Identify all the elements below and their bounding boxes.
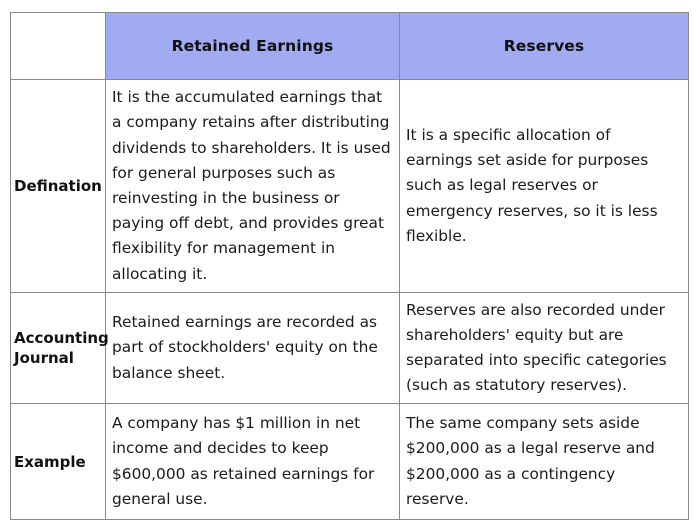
column-header-reserves: Reserves xyxy=(400,13,689,80)
cell-defination-retained-earnings: It is the accumulated earnings that a co… xyxy=(106,80,400,293)
cell-accounting-journal-retained-earnings: Retained earnings are recorded as part o… xyxy=(106,293,400,404)
row-label-example: Example xyxy=(11,404,106,520)
cell-text: The same company sets aside $200,000 as … xyxy=(406,411,681,512)
cell-text: It is the accumulated earnings that a co… xyxy=(112,85,392,287)
table-body: Defination It is the accumulated earning… xyxy=(11,80,689,520)
cell-text: It is a specific allocation of earnings … xyxy=(406,123,681,249)
table-row: Accounting Journal Retained earnings are… xyxy=(11,293,689,404)
table-row: Defination It is the accumulated earning… xyxy=(11,80,689,293)
cell-accounting-journal-reserves: Reserves are also recorded under shareho… xyxy=(400,293,689,404)
page-canvas: Retained Earnings Reserves Defination It… xyxy=(0,0,700,500)
cell-text: Reserves are also recorded under shareho… xyxy=(406,298,681,399)
cell-text: Retained earnings are recorded as part o… xyxy=(112,310,392,386)
row-label-accounting-journal: Accounting Journal xyxy=(11,293,106,404)
cell-example-retained-earnings: A company has $1 million in net income a… xyxy=(106,404,400,520)
table-header-row: Retained Earnings Reserves xyxy=(11,13,689,80)
cell-defination-reserves: It is a specific allocation of earnings … xyxy=(400,80,689,293)
column-header-retained-earnings: Retained Earnings xyxy=(106,13,400,80)
table-header: Retained Earnings Reserves xyxy=(11,13,689,80)
cell-text: A company has $1 million in net income a… xyxy=(112,411,392,512)
table-row: Example A company has $1 million in net … xyxy=(11,404,689,520)
comparison-table: Retained Earnings Reserves Defination It… xyxy=(10,12,689,520)
row-label-defination: Defination xyxy=(11,80,106,293)
table-corner-cell xyxy=(11,13,106,80)
cell-example-reserves: The same company sets aside $200,000 as … xyxy=(400,404,689,520)
